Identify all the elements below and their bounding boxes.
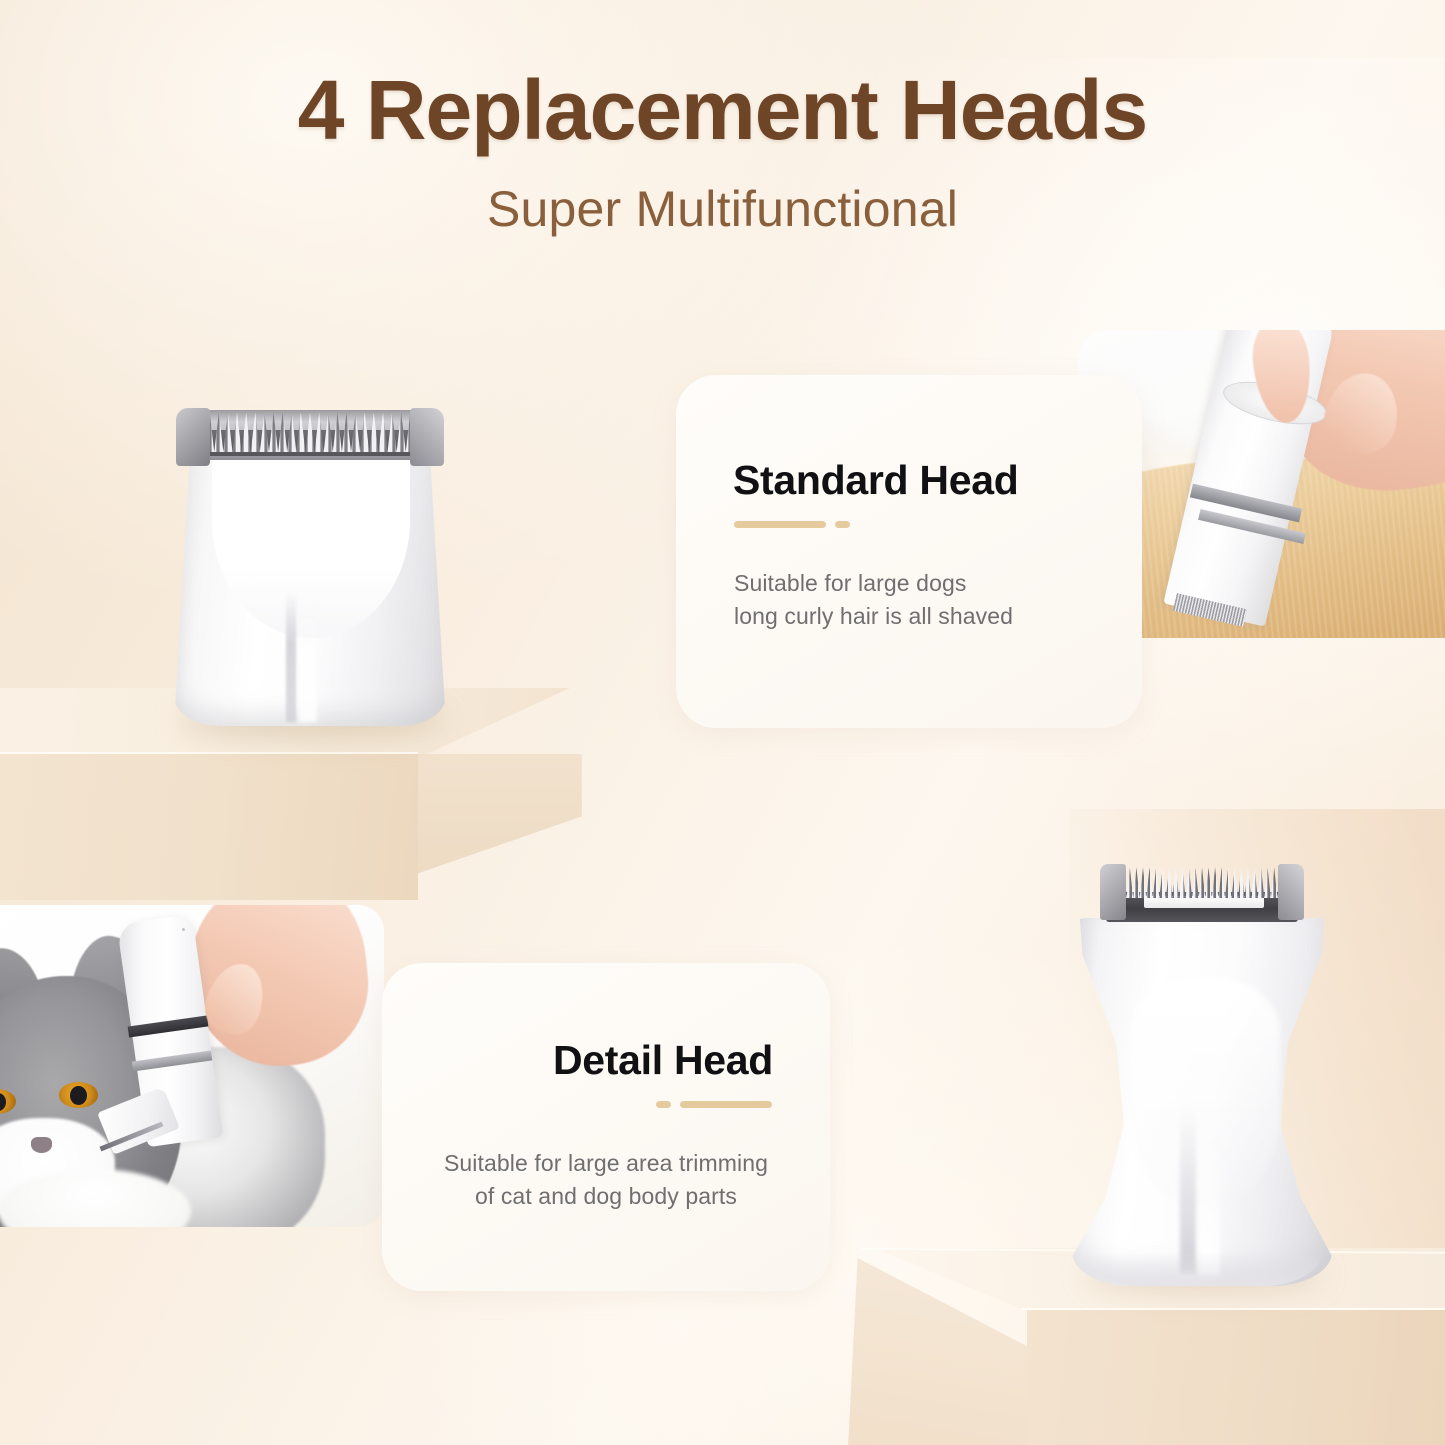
card-standard-description-line2: long curly hair is all shaved (734, 600, 1013, 633)
standard-head-highlight (299, 600, 317, 722)
detail-head-comb-teeth (1120, 864, 1284, 898)
page-title: 4 Replacement Heads (0, 62, 1445, 159)
card-detail-divider (656, 1101, 772, 1108)
pedestal-right-edge (1021, 1308, 1445, 1310)
cat-eye-right (59, 1082, 99, 1108)
product-detail-head (1072, 856, 1332, 1286)
divider-short-dash (835, 521, 850, 528)
detail-head-cap-left (1100, 864, 1126, 920)
divider-long-dash (734, 521, 826, 528)
pedestal-left-side (416, 754, 582, 874)
detail-head-cap-right (1278, 864, 1304, 920)
product-standard-head (160, 392, 460, 732)
card-standard-description-line1: Suitable for large dogs (734, 567, 1013, 600)
pedestal-right-face (1027, 1310, 1445, 1445)
detail-head-gloss (1180, 1106, 1196, 1274)
card-detail-head: Detail Head Suitable for large area trim… (382, 963, 830, 1291)
standard-head-gloss (286, 592, 296, 722)
card-standard-head: Standard Head Suitable for large dogs lo… (676, 375, 1142, 728)
pedestal-left-face (0, 754, 418, 900)
standard-head-cap-left (176, 408, 210, 466)
divider-short-dash (656, 1101, 671, 1108)
card-detail-heading: Detail Head (553, 1037, 773, 1084)
photo-cat-grooming (0, 905, 384, 1227)
card-standard-description: Suitable for large dogs long curly hair … (734, 567, 1013, 633)
card-detail-description: Suitable for large area trimming of cat … (382, 1147, 830, 1213)
divider-long-dash (680, 1101, 772, 1108)
product-feature-banner: 4 Replacement Heads Super Multifunctiona… (0, 0, 1445, 1445)
standard-head-cap-right (410, 408, 444, 466)
card-standard-heading: Standard Head (733, 457, 1018, 504)
card-detail-description-line2: of cat and dog body parts (408, 1180, 804, 1213)
detail-head-base (1082, 1252, 1322, 1286)
pedestal-left-edge (0, 752, 418, 754)
card-standard-divider (734, 521, 850, 528)
page-subtitle: Super Multifunctional (0, 180, 1445, 238)
card-detail-description-line1: Suitable for large area trimming (408, 1147, 804, 1180)
cat-nose (31, 1137, 52, 1153)
